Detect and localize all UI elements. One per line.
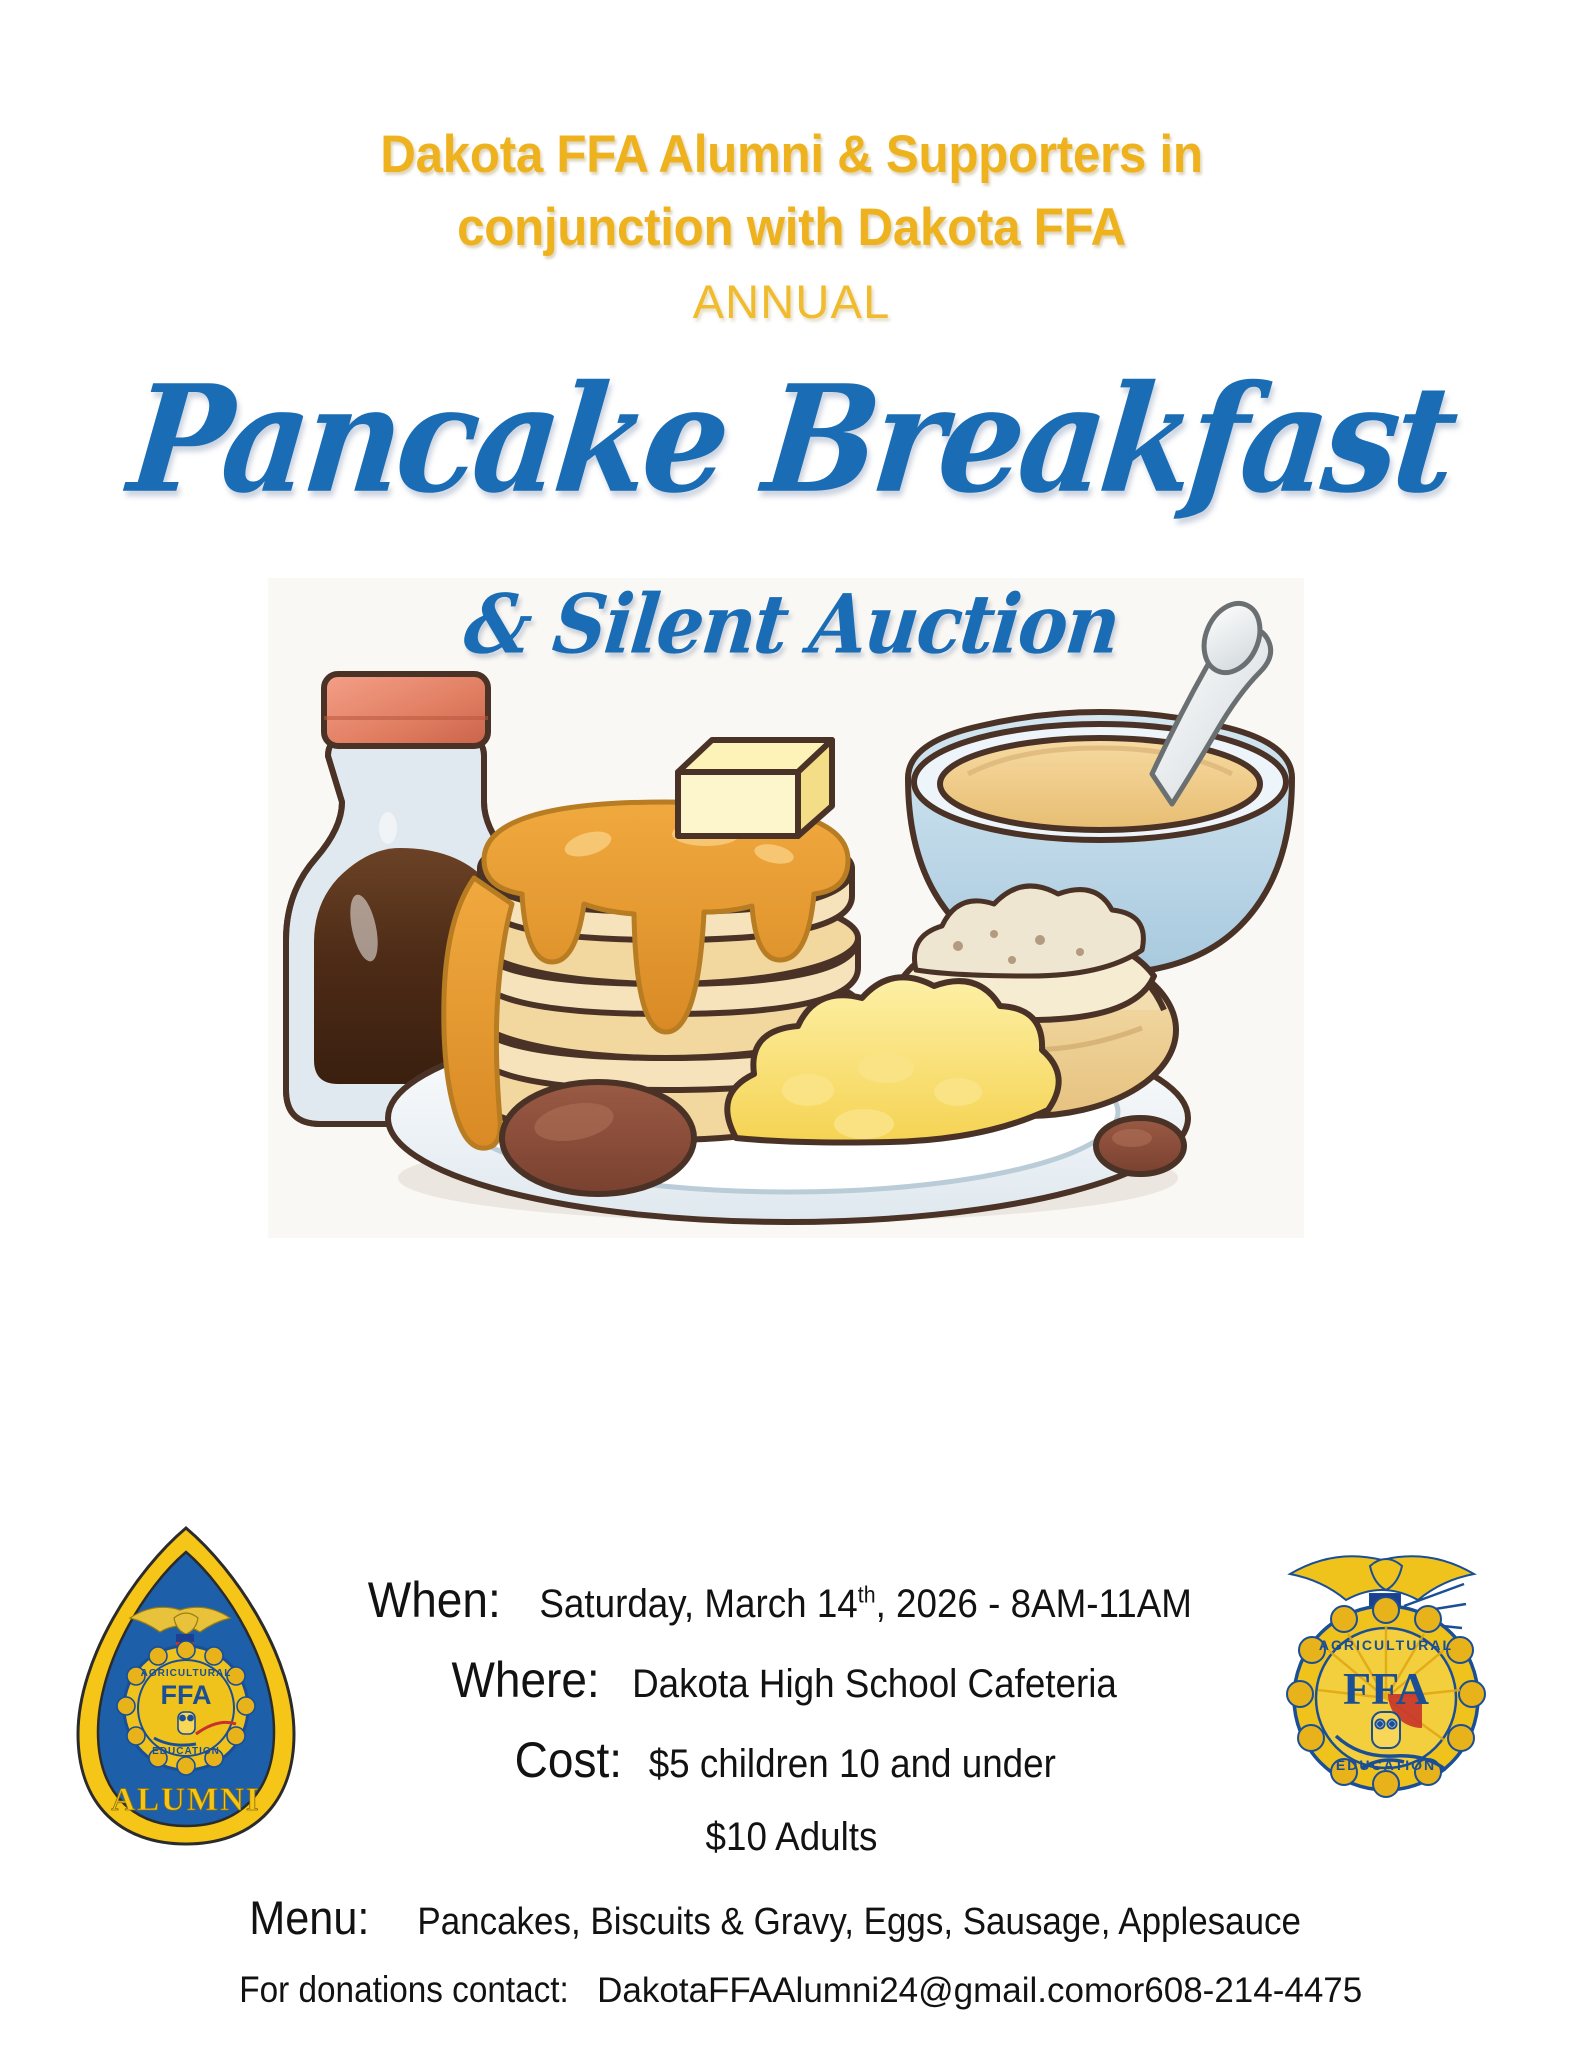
menu-value: Pancakes, Biscuits & Gravy, Eggs, Sausag… xyxy=(417,1903,1301,1941)
where-value: Dakota High School Cafeteria xyxy=(632,1664,1117,1704)
page-subtitle: & Silent Auction xyxy=(0,584,1583,665)
header-block: Dakota FFA Alumni & Supporters in conjun… xyxy=(0,118,1583,334)
cost-label: Cost: xyxy=(514,1735,621,1785)
detail-row-where: Where: Dakota High School Cafeteria xyxy=(0,1655,1583,1705)
contact-email[interactable]: DakotaFFAAlumni24@gmail.com xyxy=(597,1971,1113,2011)
contact-or: or xyxy=(1113,1971,1144,2011)
detail-row-when: When: Saturday, March 14th, 2026 - 8AM-1… xyxy=(0,1575,1583,1625)
contact-phone[interactable]: 608-214-4475 xyxy=(1144,1971,1362,2011)
when-label: When: xyxy=(368,1575,501,1625)
detail-row-menu: Menu: Pancakes, Biscuits & Gravy, Eggs, … xyxy=(0,1894,1583,1941)
menu-label: Menu: xyxy=(249,1894,369,1941)
event-details: When: Saturday, March 14th, 2026 - 8AM-1… xyxy=(0,1575,1583,2011)
contact-lead: For donations contact: xyxy=(239,1969,568,2011)
when-value: Saturday, March 14th, 2026 - 8AM-11AM xyxy=(540,1584,1193,1624)
title-block: Pancake Breakfast xyxy=(0,372,1583,506)
pancake-breakfast-illustration xyxy=(268,578,1304,1238)
page-title: Pancake Breakfast xyxy=(0,365,1583,512)
header-line-1: Dakota FFA Alumni & Supporters in xyxy=(55,118,1527,191)
cost-value: $5 children 10 and under xyxy=(648,1744,1055,1784)
header-line-2: conjunction with Dakota FFA xyxy=(55,191,1527,264)
detail-row-contact: For donations contact: DakotaFFAAlumni24… xyxy=(0,1969,1583,2011)
flyer-page: Dakota FFA Alumni & Supporters in conjun… xyxy=(0,0,1583,2048)
where-label: Where: xyxy=(452,1655,600,1705)
detail-row-cost: Cost: $5 children 10 and under xyxy=(0,1735,1583,1785)
cost-value-adults: $10 Adults xyxy=(63,1815,1519,1860)
header-annual: ANNUAL xyxy=(0,270,1583,333)
